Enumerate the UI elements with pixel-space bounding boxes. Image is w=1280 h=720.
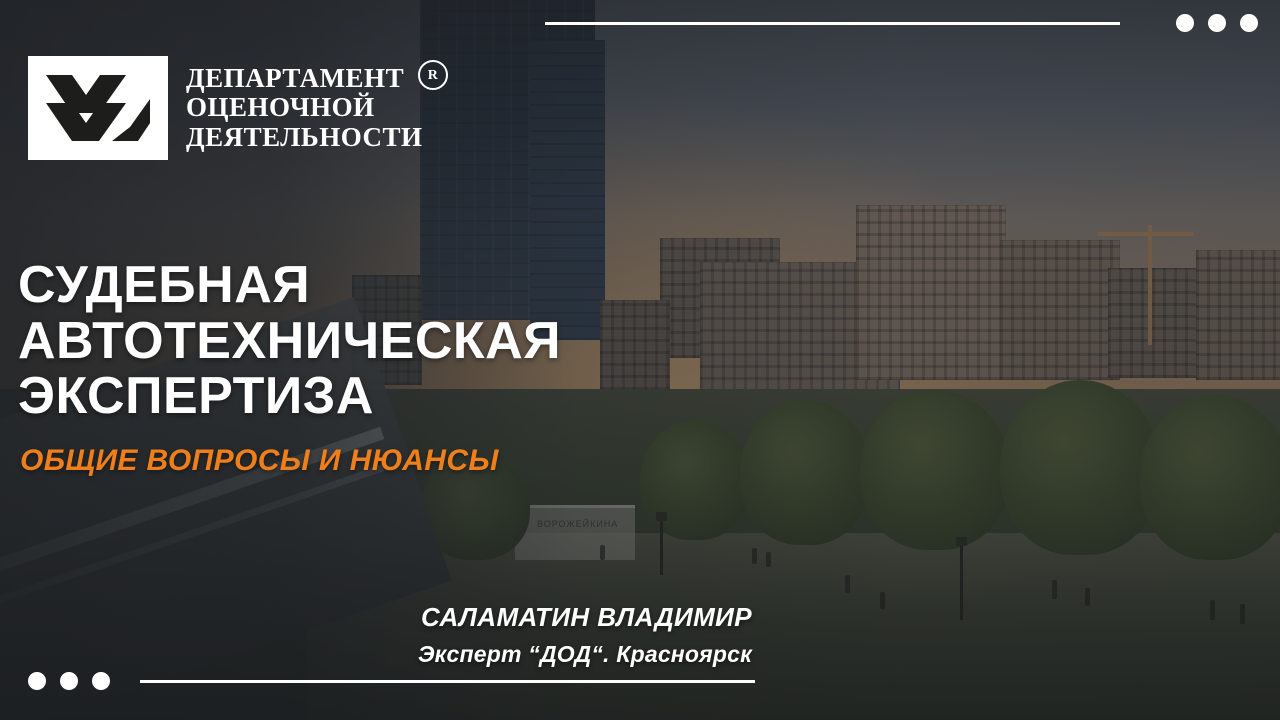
dot-icon bbox=[92, 672, 110, 690]
dot-icon bbox=[28, 672, 46, 690]
company-logo: ДЕПАРТАМЕНТ ОЦЕНОЧНОЙ ДЕЯТЕЛЬНОСТИ R bbox=[28, 56, 423, 160]
dot-icon bbox=[1176, 14, 1194, 32]
registered-trademark-icon: R bbox=[418, 60, 448, 90]
title-line-3: ЭКСПЕРТИЗА bbox=[18, 369, 561, 425]
top-divider-line bbox=[545, 22, 1120, 25]
dot-icon bbox=[60, 672, 78, 690]
slide-title: СУДЕБНАЯ АВТОТЕХНИЧЕСКАЯ ЭКСПЕРТИЗА bbox=[18, 258, 561, 425]
title-line-1: СУДЕБНАЯ bbox=[18, 258, 561, 314]
title-line-2: АВТОТЕХНИЧЕСКАЯ bbox=[18, 314, 561, 370]
slide-subtitle: ОБЩИЕ ВОПРОСЫ И НЮАНСЫ bbox=[20, 444, 499, 478]
dot-icon bbox=[1240, 14, 1258, 32]
company-name-line-2: ОЦЕНОЧНОЙ bbox=[186, 93, 423, 122]
top-dots-decoration bbox=[1176, 14, 1258, 32]
bottom-divider-line bbox=[140, 680, 755, 683]
company-name-line-3: ДЕЯТЕЛЬНОСТИ bbox=[186, 123, 423, 152]
company-name: ДЕПАРТАМЕНТ ОЦЕНОЧНОЙ ДЕЯТЕЛЬНОСТИ R bbox=[186, 64, 423, 151]
slide-content: ДЕПАРТАМЕНТ ОЦЕНОЧНОЙ ДЕЯТЕЛЬНОСТИ R СУД… bbox=[0, 0, 1280, 720]
speaker-role: Эксперт “ДОД“. Красноярск bbox=[418, 641, 752, 668]
chevron-mark-logo-icon bbox=[28, 56, 168, 160]
dot-icon bbox=[1208, 14, 1226, 32]
speaker-name: САЛАМАТИН ВЛАДИМИР bbox=[418, 602, 752, 633]
company-name-line-1: ДЕПАРТАМЕНТ bbox=[186, 64, 423, 93]
speaker-block: САЛАМАТИН ВЛАДИМИР Эксперт “ДОД“. Красно… bbox=[418, 602, 752, 668]
bottom-dots-decoration bbox=[28, 672, 110, 690]
presentation-slide: ВОРОЖЕЙКИНА bbox=[0, 0, 1280, 720]
